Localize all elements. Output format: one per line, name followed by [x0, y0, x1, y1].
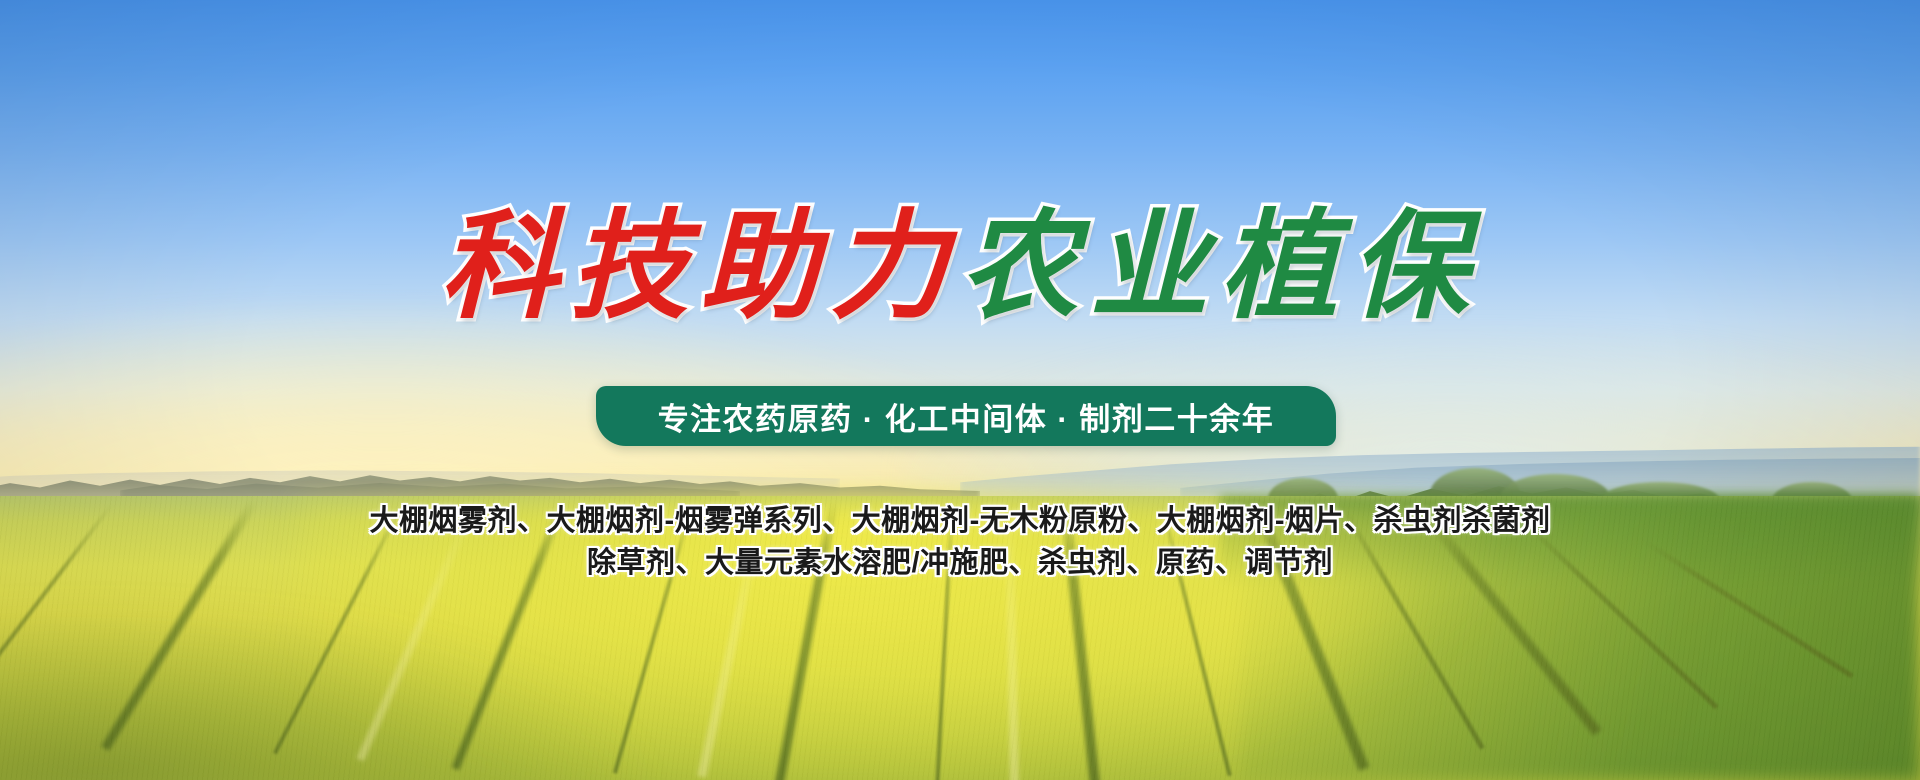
subtitle-pill: 专注农药原药 · 化工中间体 · 制剂二十余年: [596, 386, 1336, 446]
field-shadow-left: [0, 600, 660, 780]
hero-banner: 科技助力农业植保 专注农药原药 · 化工中间体 · 制剂二十余年 大棚烟雾剂、大…: [0, 0, 1920, 780]
subtitle-pill-text: 专注农药原药 · 化工中间体 · 制剂二十余年: [658, 394, 1275, 439]
